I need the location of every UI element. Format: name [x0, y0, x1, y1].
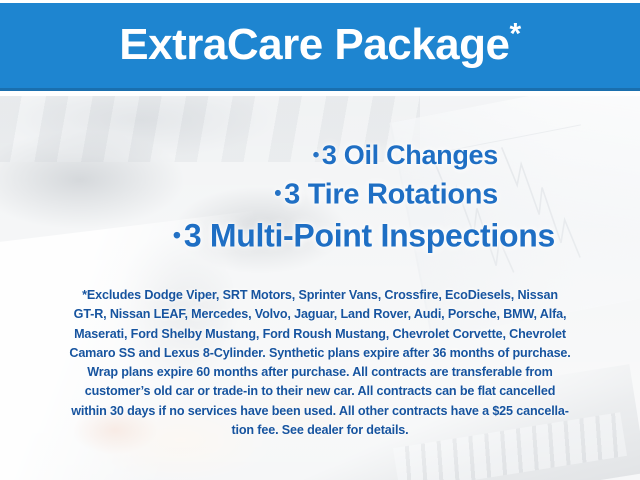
header-bar: ExtraCare Package* — [0, 3, 640, 91]
bullet-dot-icon: • — [173, 222, 181, 248]
header-bottom-gap — [0, 91, 640, 96]
disclaimer-line: GT-R, Nissan LEAF, Mercedes, Volvo, Jagu… — [0, 305, 640, 324]
bullet-dot-icon: • — [313, 144, 320, 166]
disclaimer-line: Wrap plans expire 60 months after purcha… — [0, 363, 640, 382]
list-item: •3 Multi-Point Inspections — [0, 214, 555, 257]
list-item-label: 3 Multi-Point Inspections — [184, 218, 555, 254]
extracare-promo-banner: ExtraCare Package* •3 Oil Changes •3 Tir… — [0, 0, 640, 480]
page-title: ExtraCare Package* — [119, 23, 520, 67]
title-asterisk: * — [510, 17, 521, 50]
list-item-label: 3 Oil Changes — [322, 140, 498, 170]
disclaimer-line: tion fee. See dealer for details. — [0, 421, 640, 440]
disclaimer-line: within 30 days if no services have been … — [0, 402, 640, 421]
list-item: •3 Tire Rotations — [0, 174, 498, 214]
list-item-label: 3 Tire Rotations — [284, 178, 498, 210]
page-title-text: ExtraCare Package — [119, 20, 509, 69]
list-item: •3 Oil Changes — [0, 136, 498, 174]
disclaimer-line: Camaro SS and Lexus 8-Cylinder. Syntheti… — [0, 344, 640, 363]
disclaimer-line: *Excludes Dodge Viper, SRT Motors, Sprin… — [0, 286, 640, 305]
benefits-list: •3 Oil Changes •3 Tire Rotations •3 Mult… — [0, 136, 640, 257]
disclaimer-line: Maserati, Ford Shelby Mustang, Ford Rous… — [0, 325, 640, 344]
bullet-dot-icon: • — [274, 182, 281, 205]
disclaimer-text: *Excludes Dodge Viper, SRT Motors, Sprin… — [0, 286, 640, 440]
disclaimer-line: customer’s old car or trade-in to their … — [0, 382, 640, 401]
